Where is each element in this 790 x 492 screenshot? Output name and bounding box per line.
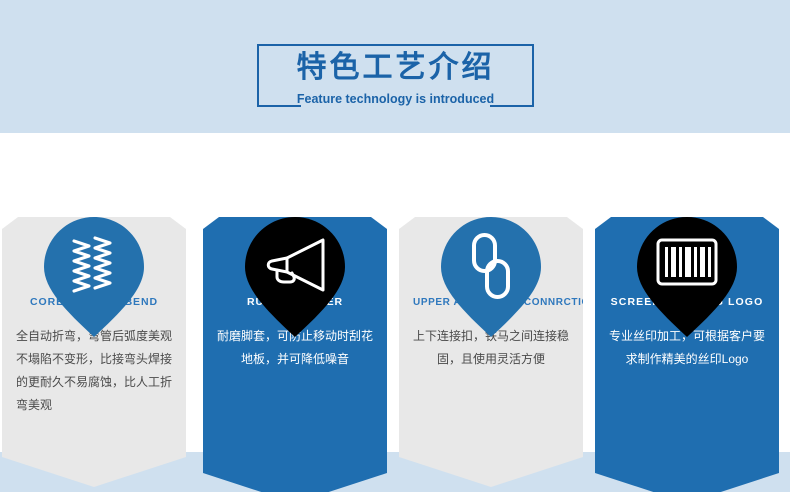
pin-marker xyxy=(44,217,144,337)
feature-card-list: 抽芯弯管 CORE-PULLING BEND 全自动折弯，弯管后弧度美观不塌陷不… xyxy=(0,133,790,452)
feature-card-upper-lower-connection[interactable]: 上下连接 UPPER AND LOWER CONNRCTION 上下连接扣，铁马… xyxy=(399,217,583,487)
page-subtitle: Feature technology is introduced xyxy=(257,92,534,106)
page-title: 特色工艺介绍 xyxy=(257,46,534,90)
pin-marker xyxy=(441,217,541,337)
card-description: 全自动折弯，弯管后弧度美观不塌陷不变形，比接弯头焊接的更耐久不易腐蚀，比人工折弯… xyxy=(16,325,172,417)
feature-card-screen-printing-logo[interactable]: 丝印商标 SCREEN PRINTING LOGO 专业丝印加工，可根据客户要求… xyxy=(595,217,779,492)
feature-technology-banner: 特色工艺介绍 Feature technology is introduced … xyxy=(0,0,790,492)
pin-marker xyxy=(245,217,345,337)
feature-card-rubber-cover[interactable]: 橡胶脚套 RUBBER COVER 耐磨脚套，可防止移动时刮花地板，并可降低噪音 xyxy=(203,217,387,492)
feature-card-core-pulling-bend[interactable]: 抽芯弯管 CORE-PULLING BEND 全自动折弯，弯管后弧度美观不塌陷不… xyxy=(2,217,186,487)
section-title-frame: 特色工艺介绍 Feature technology is introduced xyxy=(257,44,534,107)
pin-marker xyxy=(637,217,737,337)
